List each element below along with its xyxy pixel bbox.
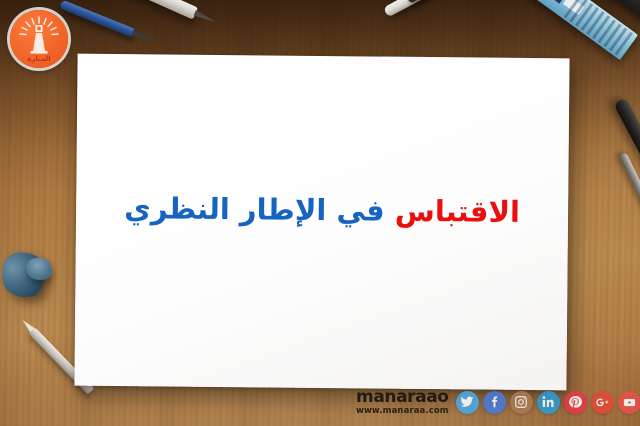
googleplus-icon[interactable] xyxy=(591,391,614,414)
facebook-icon[interactable] xyxy=(483,391,506,414)
instagram-icon[interactable] xyxy=(510,391,533,414)
pinterest-icon[interactable] xyxy=(564,391,587,414)
brand-url: www.manaraa.com xyxy=(356,407,449,416)
title-rest: في الإطار النظري xyxy=(124,190,385,229)
paper-sheet: الاقتباس في الإطار النظري xyxy=(74,54,569,391)
manaraa-logo[interactable]: المنارة xyxy=(10,10,68,68)
slide-title: الاقتباس في الإطار النظري xyxy=(76,190,568,231)
svg-text:المنارة: المنارة xyxy=(27,55,50,63)
twitter-icon[interactable] xyxy=(456,391,479,414)
slide-image: الاقتباس في الإطار النظري المنارة xyxy=(0,0,640,426)
watermark: manaraao www.manaraa.com xyxy=(356,389,640,416)
linkedin-icon[interactable] xyxy=(537,391,560,414)
youtube-icon[interactable] xyxy=(618,391,640,414)
social-links xyxy=(456,391,640,414)
title-highlight-word: الاقتباس xyxy=(395,193,520,230)
brand-name: manaraao xyxy=(356,389,449,406)
watermark-text: manaraao www.manaraa.com xyxy=(356,389,449,416)
